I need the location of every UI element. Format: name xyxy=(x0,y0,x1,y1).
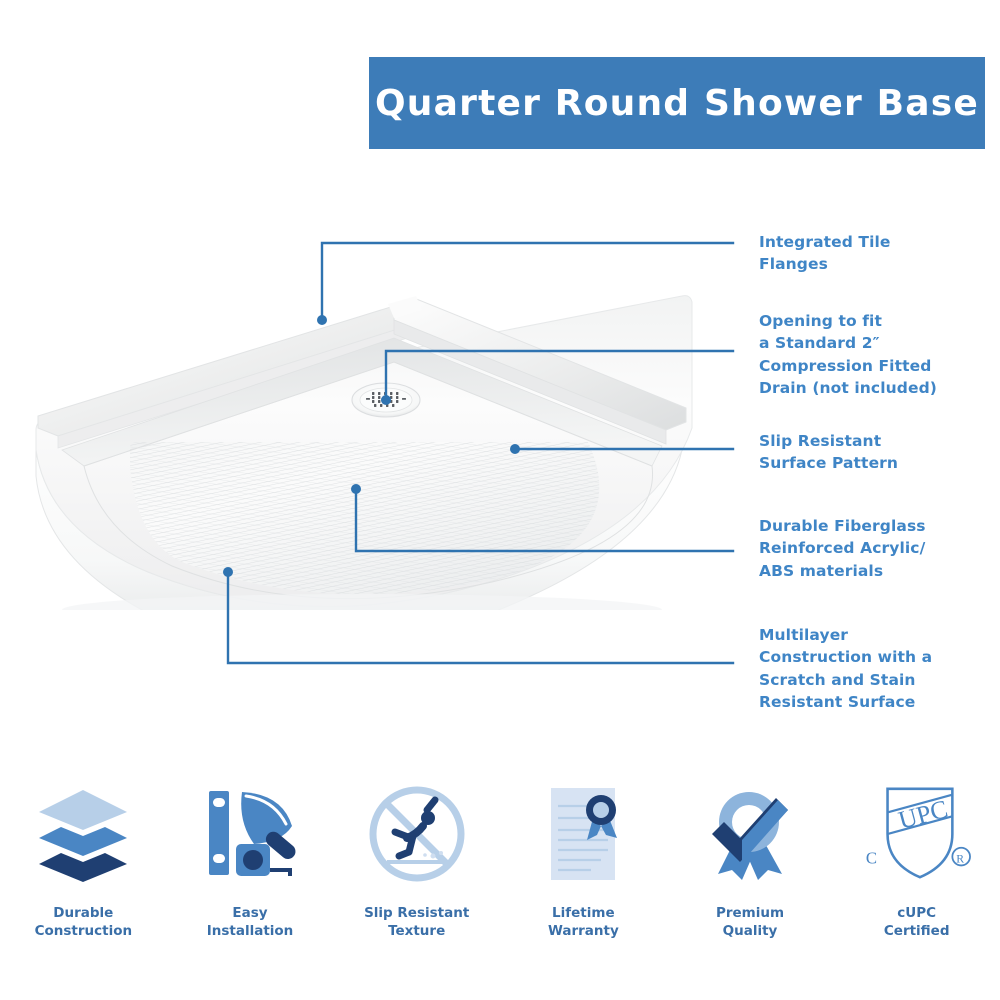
certificate-rosette-icon xyxy=(528,778,638,890)
feature-label: Lifetime Warranty xyxy=(548,904,619,940)
callout-slip-resistant-surface: Slip Resistant Surface Pattern xyxy=(759,430,994,475)
feature-lifetime-warranty: Lifetime Warranty xyxy=(500,778,667,940)
callout-drain-opening: Opening to fit a Standard 2″ Compression… xyxy=(759,310,999,400)
no-slip-icon xyxy=(362,778,472,890)
feature-label: Easy Installation xyxy=(207,904,294,940)
feature-slip-resistant-texture: Slip Resistant Texture xyxy=(333,778,500,940)
feature-badge-row: Durable Construction xyxy=(0,778,1000,968)
feature-label: cUPC Certified xyxy=(884,904,950,940)
feature-label: Durable Construction xyxy=(35,904,133,940)
upc-shield-label: UPC xyxy=(895,794,950,835)
title-banner: Quarter Round Shower Base xyxy=(369,57,985,149)
callout-multilayer-construction: Multilayer Construction with a Scratch a… xyxy=(759,624,994,714)
feature-cupc-certified: UPC C R cUPC Certified xyxy=(833,778,1000,940)
feature-premium-quality: Premium Quality xyxy=(667,778,834,940)
upc-prefix-c: C xyxy=(866,848,877,867)
feature-label: Slip Resistant Texture xyxy=(364,904,469,940)
feature-durable-construction: Durable Construction xyxy=(0,778,167,940)
infographic-page: Quarter Round Shower Base xyxy=(0,0,1000,1000)
stacked-layers-icon xyxy=(28,778,138,890)
feature-easy-installation: Easy Installation xyxy=(167,778,334,940)
upc-registered-mark: R xyxy=(956,852,964,865)
upc-shield-icon: UPC C R xyxy=(862,778,972,890)
page-title: Quarter Round Shower Base xyxy=(375,83,979,124)
feature-label: Premium Quality xyxy=(716,904,784,940)
product-illustration xyxy=(22,280,722,610)
drain-cover xyxy=(352,383,420,417)
callout-durable-fiberglass: Durable Fiberglass Reinforced Acrylic/ A… xyxy=(759,515,999,582)
shower-base-drawing xyxy=(22,280,722,610)
checkmark-rosette-icon xyxy=(695,778,805,890)
level-trowel-tape-icon xyxy=(195,778,305,890)
callout-integrated-tile-flanges: Integrated Tile Flanges xyxy=(759,231,994,276)
